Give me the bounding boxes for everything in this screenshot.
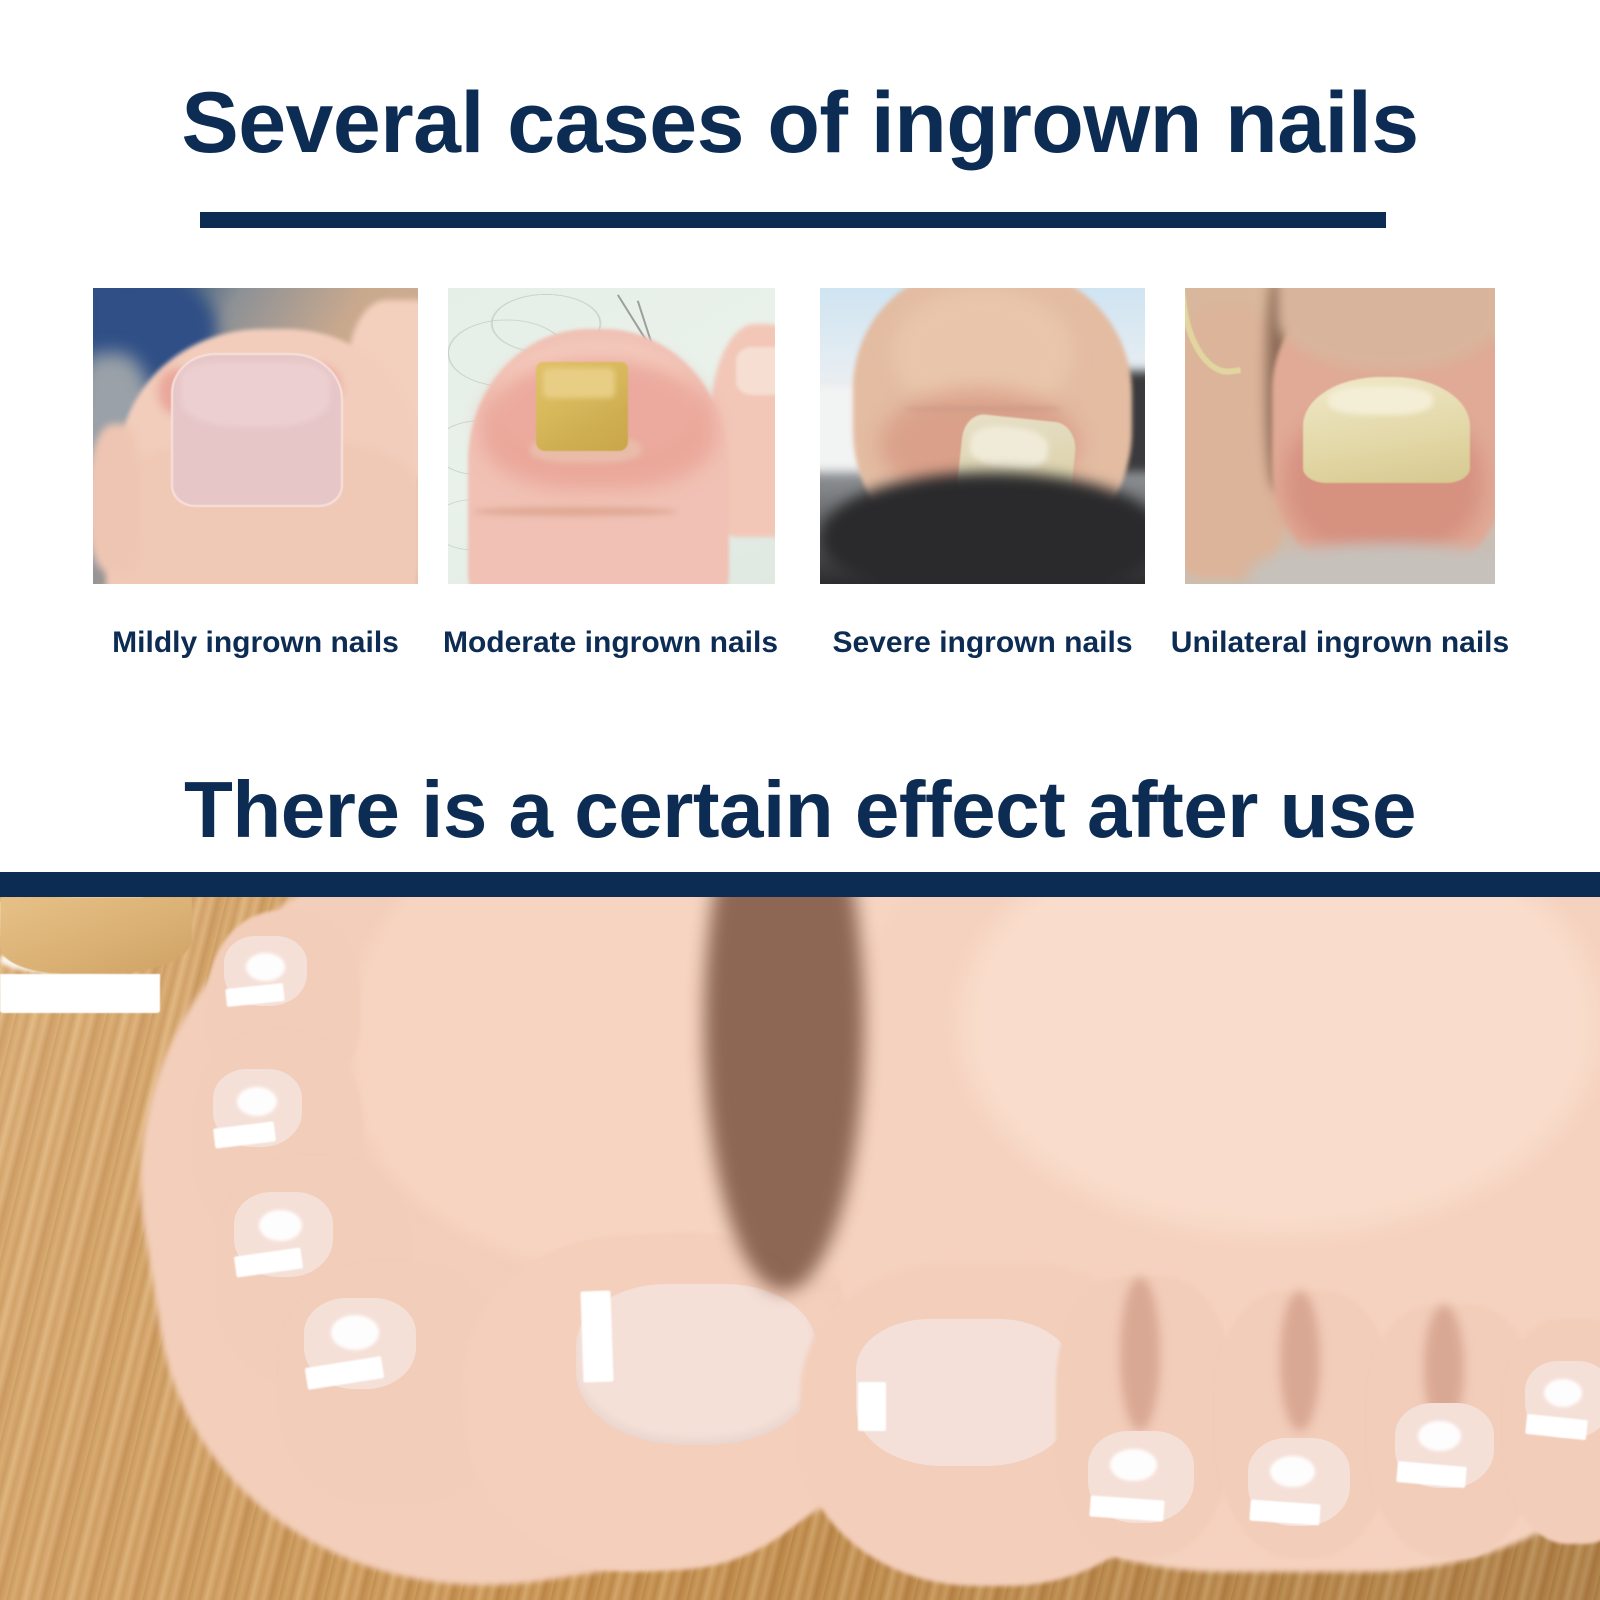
case-thumbnail-unilateral[interactable] [1185,288,1495,584]
case-photo-severe [820,288,1145,584]
case-caption-mild: Mildly ingrown nails [78,624,433,662]
nail-treatment-patch [0,897,192,974]
result-photo-feet [0,897,1600,1600]
infographic-page: Several cases of ingrown nails [0,0,1600,1600]
title-underline-rule [200,212,1386,228]
case-caption-unilateral: Unilateral ingrown nails [1160,624,1520,662]
case-photo-unilateral [1185,288,1495,584]
section-divider-bar [0,872,1600,897]
result-photo-section [0,897,1600,1600]
case-thumbnail-row [0,288,1600,584]
result-section-title: There is a certain effect after use [0,768,1600,852]
ingrown-cases-section: Several cases of ingrown nails [0,0,1600,874]
case-thumbnail-mild[interactable] [93,288,418,584]
page-title: Several cases of ingrown nails [0,78,1600,168]
case-thumbnail-moderate[interactable] [448,288,775,584]
case-caption-severe: Severe ingrown nails [810,624,1155,662]
case-caption-moderate: Moderate ingrown nails [428,624,793,662]
right-foot [0,897,1600,1600]
case-photo-mild [93,288,418,584]
case-photo-moderate [448,288,775,584]
case-thumbnail-severe[interactable] [820,288,1145,584]
